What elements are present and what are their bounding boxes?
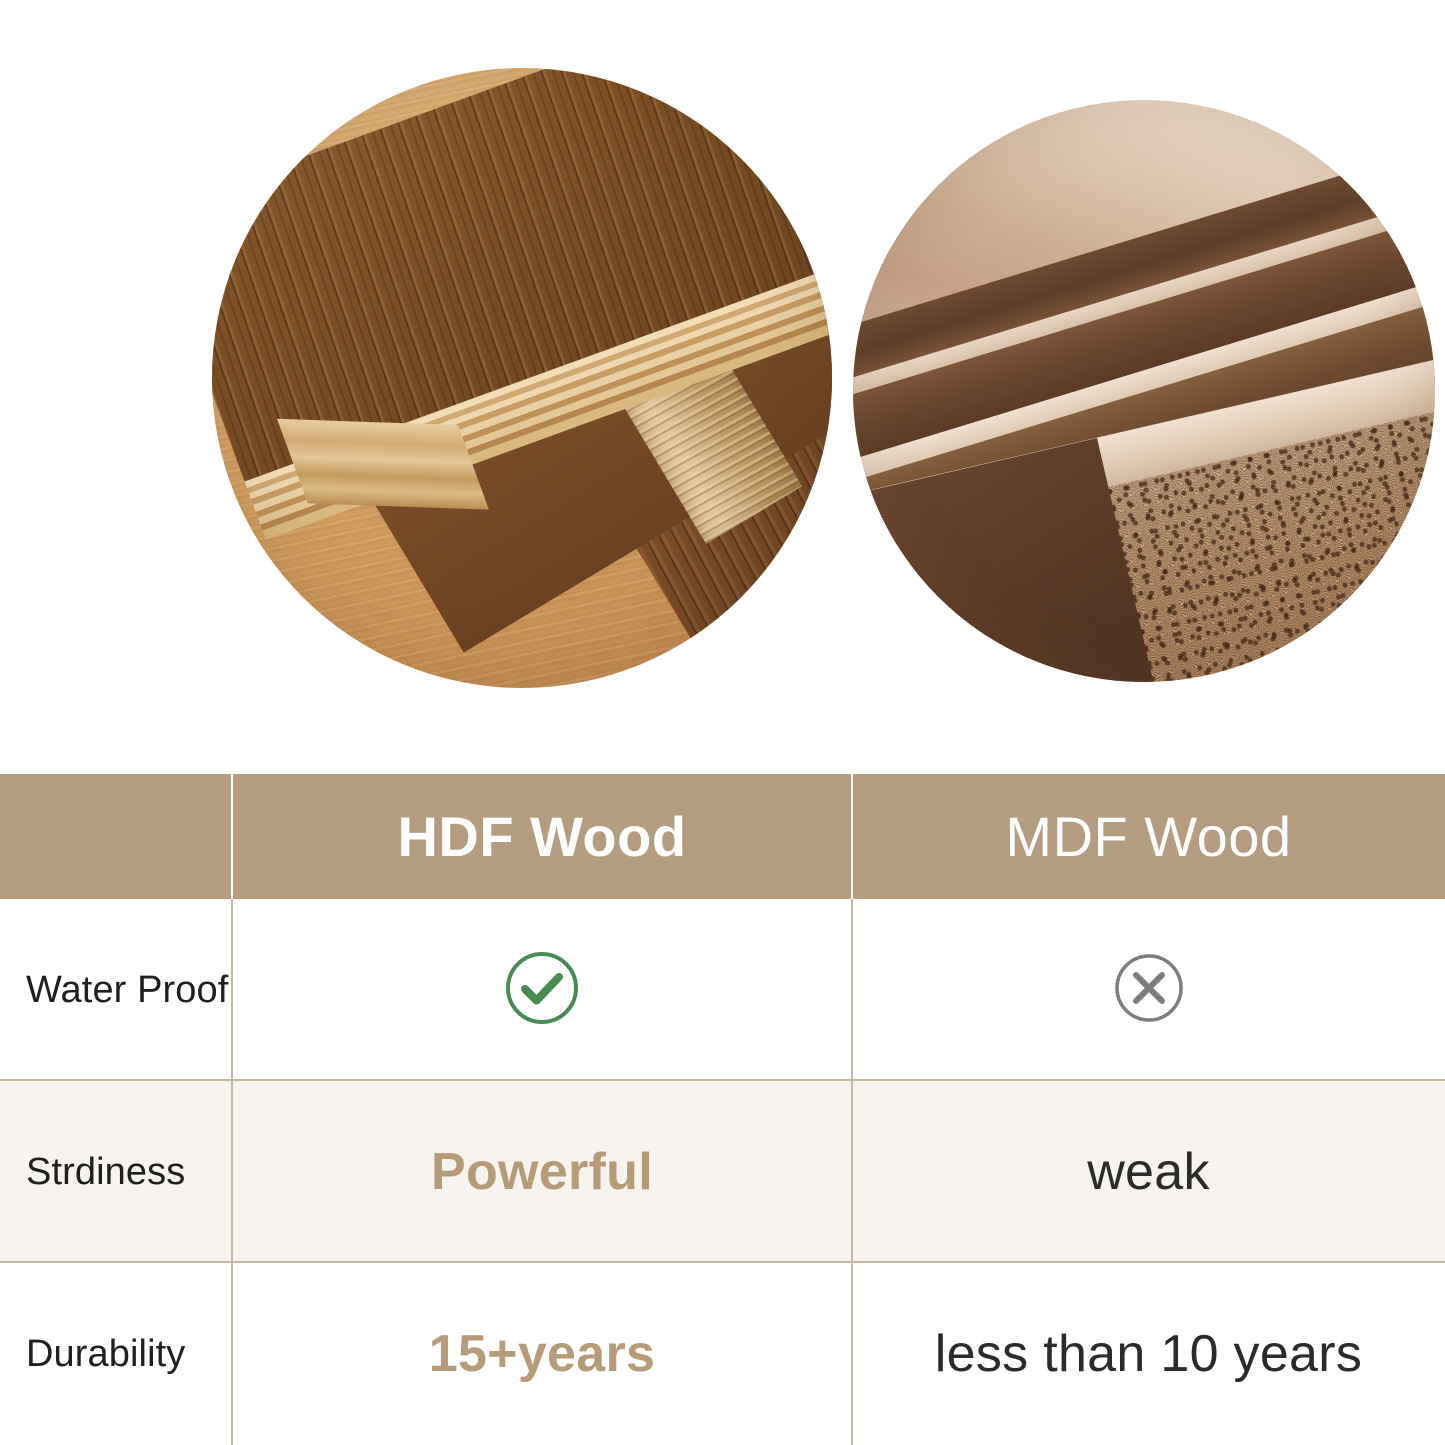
hdf-plywood-scene: [212, 68, 832, 688]
comparison-table: HDF Wood MDF Wood Water Proof: [0, 774, 1445, 1445]
mdf-fiberboard-photo: [853, 100, 1435, 682]
table-header-row: HDF Wood MDF Wood: [0, 774, 1445, 899]
value-hdf-strdiness: Powerful: [431, 1142, 653, 1202]
cell-hdf-durability: 15+years: [232, 1263, 852, 1445]
header-label-hdf: HDF Wood: [397, 804, 686, 869]
row-label-cell: Durability: [0, 1263, 232, 1445]
value-hdf-durability: 15+years: [429, 1324, 656, 1384]
mdf-fiberboard-scene: [853, 100, 1435, 682]
header-cell-attribute: [0, 774, 232, 899]
cell-mdf-strdiness: weak: [852, 1081, 1445, 1263]
header-cell-mdf: MDF Wood: [852, 774, 1445, 899]
cell-mdf-water-proof: [852, 899, 1445, 1081]
row-label-water-proof: Water Proof: [26, 969, 228, 1012]
plywood-side-thickness: [277, 419, 489, 510]
row-label-cell: Water Proof: [0, 899, 232, 1081]
row-divider-left: [231, 1263, 233, 1445]
table-row: Water Proof: [0, 899, 1445, 1081]
check-circle-icon: [504, 950, 580, 1031]
row-label-strdiness: Strdiness: [26, 1151, 185, 1194]
row-label-cell: Strdiness: [0, 1081, 232, 1263]
row-divider-right: [851, 1263, 853, 1445]
photo-comparison-area: [0, 0, 1445, 774]
product-comparison-infographic: HDF Wood MDF Wood Water Proof: [0, 0, 1445, 1445]
cross-circle-icon: [1113, 952, 1185, 1029]
header-divider-left: [231, 774, 233, 899]
cell-hdf-water-proof: [232, 899, 852, 1081]
table-row: Durability 15+years less than 10 years: [0, 1263, 1445, 1445]
hdf-plywood-photo: [212, 68, 832, 688]
table-row: Strdiness Powerful weak: [0, 1081, 1445, 1263]
row-divider-right: [851, 1081, 853, 1263]
cell-mdf-durability: less than 10 years: [852, 1263, 1445, 1445]
row-label-durability: Durability: [26, 1333, 185, 1376]
value-mdf-durability: less than 10 years: [935, 1324, 1362, 1384]
header-label-mdf: MDF Wood: [1005, 804, 1291, 869]
header-cell-hdf: HDF Wood: [232, 774, 852, 899]
row-divider-left: [231, 1081, 233, 1263]
cell-hdf-strdiness: Powerful: [232, 1081, 852, 1263]
header-divider-right: [851, 774, 853, 899]
row-divider-right: [851, 899, 853, 1081]
row-divider-left: [231, 899, 233, 1081]
value-mdf-strdiness: weak: [1087, 1142, 1210, 1202]
